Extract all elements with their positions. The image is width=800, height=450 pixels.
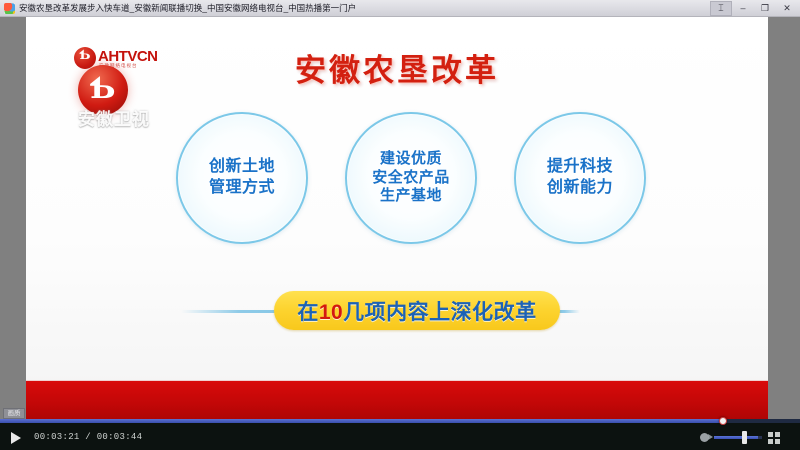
fullscreen-icon[interactable]: [768, 432, 780, 444]
video-slide-frame: AHTVCN 安徽网络电视台 安徽卫视 安徽农垦改革 创新土地 管理方式 建设优…: [26, 17, 768, 422]
logo-watermark: 安徽卫视: [56, 105, 172, 130]
player-control-bar: 00:03:21 / 00:03:44: [0, 422, 800, 450]
banner-prefix: 在: [297, 301, 319, 324]
play-icon: [11, 432, 21, 444]
circle-group: 创新土地 管理方式 建设优质 安全农产品 生产基地 提升科技 创新能力: [176, 112, 646, 257]
pin-on-top-button[interactable]: ⌶: [710, 1, 732, 16]
circle-line: 安全农产品: [372, 169, 450, 188]
circle-tech-innovation: 提升科技 创新能力: [514, 112, 646, 244]
progress-scrubber-handle[interactable]: [719, 417, 727, 425]
circle-line: 建设优质: [372, 150, 450, 169]
volume-slider-handle[interactable]: [742, 431, 747, 444]
circle-line: 创新土地: [209, 157, 275, 178]
timecode-display: 00:03:21 / 00:03:44: [34, 432, 142, 442]
window-title: 安徽农垦改革发展步入快车道_安徽新闻联播切换_中国安徽网络电视台_中国热播第一门…: [19, 0, 710, 17]
minimize-button[interactable]: –: [732, 1, 754, 16]
volume-wave-shape: [708, 434, 713, 440]
slide-banner: 在10几项内容上深化改革: [274, 291, 560, 330]
progress-bar[interactable]: [0, 419, 800, 423]
circle-tech-innovation-text: 提升科技 创新能力: [547, 157, 613, 199]
fullscreen-cell: [775, 439, 780, 444]
circle-line: 生产基地: [372, 187, 450, 206]
circle-innovate-land-text: 创新土地 管理方式: [209, 157, 275, 199]
volume-fill: [714, 436, 758, 439]
volume-icon[interactable]: [700, 432, 713, 443]
quality-badge[interactable]: 画质: [3, 408, 25, 419]
close-button[interactable]: ✕: [776, 1, 798, 16]
circle-quality-produce: 建设优质 安全农产品 生产基地: [345, 112, 477, 244]
slide-banner-text: 在10几项内容上深化改革: [297, 296, 536, 326]
circle-line: 提升科技: [547, 157, 613, 178]
progress-fill: [0, 419, 723, 423]
circle-quality-produce-text: 建设优质 安全农产品 生产基地: [372, 150, 450, 207]
browser-window: 安徽农垦改革发展步入快车道_安徽新闻联播切换_中国安徽网络电视台_中国热播第一门…: [0, 0, 800, 450]
title-bar: 安徽农垦改革发展步入快车道_安徽新闻联播切换_中国安徽网络电视台_中国热播第一门…: [0, 0, 800, 17]
circle-line: 管理方式: [209, 178, 275, 199]
banner-number: 10: [319, 301, 343, 324]
circle-line: 创新能力: [547, 178, 613, 199]
fullscreen-cell: [768, 439, 773, 444]
volume-slider[interactable]: [714, 436, 762, 439]
fullscreen-cell: [775, 432, 780, 437]
play-button[interactable]: [10, 431, 22, 444]
circle-innovate-land: 创新土地 管理方式: [176, 112, 308, 244]
restore-button[interactable]: ❐: [754, 1, 776, 16]
video-viewport[interactable]: AHTVCN 安徽网络电视台 安徽卫视 安徽农垦改革 创新土地 管理方式 建设优…: [0, 17, 800, 422]
browser-favicon: [4, 3, 15, 14]
slide-bottom-band: [26, 380, 768, 422]
window-controls: ⌶ – ❐ ✕: [710, 0, 798, 17]
fullscreen-cell: [768, 432, 773, 437]
slide-heading: 安徽农垦改革: [26, 45, 768, 90]
banner-suffix: 几项内容上深化改革: [343, 301, 537, 324]
